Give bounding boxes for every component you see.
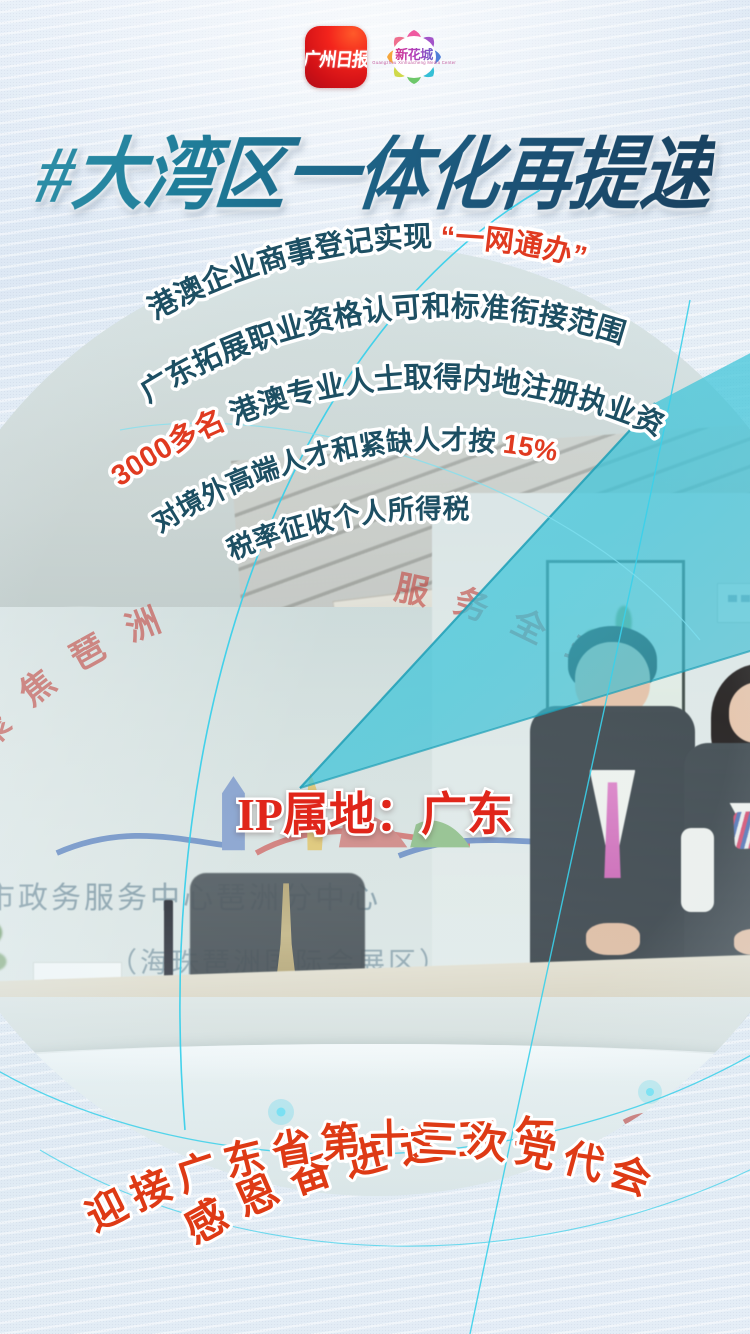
guangzhou-daily-logo[interactable]: 广州日报 xyxy=(305,26,367,88)
xinhuacheng-logo[interactable]: 新花城 Guangzhou Xinhuacheng Media Center xyxy=(383,28,445,86)
xinhuacheng-logo-text: 新花城 xyxy=(388,48,440,61)
xinhuacheng-logo-subtext: Guangzhou Xinhuacheng Media Center xyxy=(372,62,456,66)
service-center-photo: 聚焦琶洲 服务全球 广州市政务服务中心琶洲分中心 （海珠琶洲国际会展区） Gua… xyxy=(0,246,750,1196)
ip-location-badge: IP属地：广东 xyxy=(0,778,750,844)
poster-stage: 广州日报 新花城 xyxy=(0,0,750,1334)
ip-location-text: IP属地：广东 xyxy=(237,778,513,844)
page-title: #大湾区一体化再提速 #大湾区一体化再提速 xyxy=(0,132,750,218)
guangzhou-daily-logo-text: 广州日报 xyxy=(305,43,367,71)
header-logos: 广州日报 新花城 xyxy=(0,22,750,92)
photo-edge-softening xyxy=(0,246,750,1196)
page-title-text: #大湾区一体化再提速 xyxy=(34,135,716,216)
